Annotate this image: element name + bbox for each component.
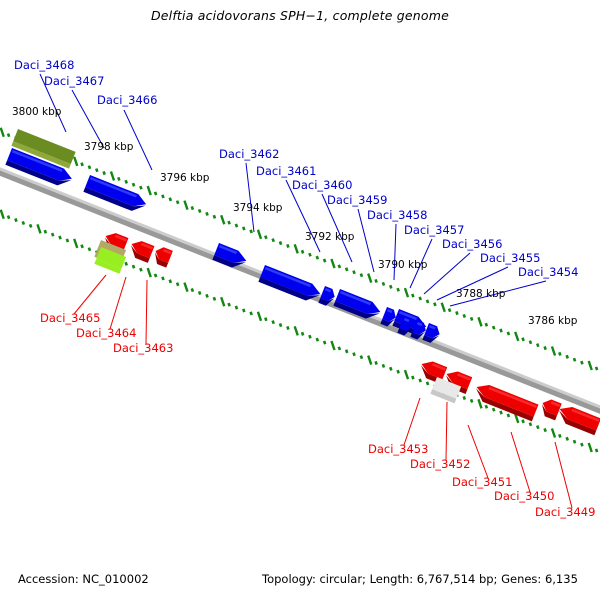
tick-mark [339, 265, 340, 268]
tick-mark [354, 353, 355, 356]
tick-mark [376, 279, 377, 282]
tick-mark [243, 227, 244, 230]
gene-reverse[interactable] [538, 397, 561, 420]
tick-mark [82, 245, 83, 248]
gene-label-daci_3463[interactable]: Daci_3463 [113, 341, 173, 355]
tick-mark [574, 440, 575, 443]
tick-mark [464, 396, 465, 399]
tick-mark [214, 215, 215, 218]
tick-mark [162, 277, 163, 280]
tick-mark [530, 423, 531, 426]
gene-reverse[interactable] [127, 238, 154, 263]
tick-mark [412, 294, 413, 297]
tick-mark [89, 166, 90, 169]
gene-reverse[interactable] [472, 381, 538, 421]
gene-label-daci_3467[interactable]: Daci_3467 [44, 74, 104, 88]
gene-label-daci_3452[interactable]: Daci_3452 [410, 457, 470, 471]
tick-mark [478, 399, 481, 408]
tick-mark [523, 420, 524, 423]
tick-mark [8, 216, 9, 219]
tick-mark [346, 350, 347, 353]
tick-mark [545, 346, 546, 349]
tick-mark [361, 356, 362, 359]
tick-mark [354, 271, 355, 274]
tick-mark [442, 303, 445, 312]
tick-mark [508, 414, 509, 417]
tick-mark [111, 171, 114, 180]
scale-label: 3794 kbp [233, 202, 283, 214]
tick-mark [478, 317, 481, 326]
genome-map-canvas[interactable]: 3800 kbp3798 kbp3796 kbp3794 kbp3792 kbp… [0, 0, 600, 600]
tick-mark [420, 297, 421, 300]
tick-mark [118, 177, 119, 180]
tick-mark [126, 180, 127, 183]
tick-mark [8, 134, 9, 137]
tick-mark [302, 332, 303, 335]
tick-mark [398, 370, 399, 373]
tick-mark [133, 183, 134, 186]
tick-mark [243, 309, 244, 312]
tick-mark [184, 283, 187, 292]
tick-mark [221, 215, 224, 224]
tick-mark [60, 236, 61, 239]
gene-label-daci_3466[interactable]: Daci_3466 [97, 93, 157, 107]
tick-mark [82, 163, 83, 166]
leader-line-forward [394, 224, 396, 280]
scale-label: 3796 kbp [160, 172, 210, 184]
tick-mark [581, 361, 582, 364]
tick-mark [346, 268, 347, 271]
leader-line-reverse [446, 402, 447, 460]
tick-mark [368, 356, 371, 365]
tick-mark [493, 326, 494, 329]
tick-mark [471, 317, 472, 320]
tick-mark [530, 341, 531, 344]
tick-mark [199, 291, 200, 294]
tick-mark [464, 314, 465, 317]
tick-mark [148, 268, 151, 277]
leader-line-forward [246, 163, 254, 232]
tick-mark [74, 239, 77, 248]
tick-mark [427, 300, 428, 303]
tick-mark [273, 321, 274, 324]
tick-mark [376, 361, 377, 364]
tick-mark [177, 283, 178, 286]
tick-mark [552, 428, 555, 437]
tick-mark [1, 128, 4, 137]
tick-mark [383, 364, 384, 367]
tick-mark [258, 230, 261, 239]
tick-mark [199, 209, 200, 212]
tick-mark [331, 259, 334, 268]
tick-mark [449, 309, 450, 312]
tick-mark [434, 303, 435, 306]
tick-mark [52, 233, 53, 236]
tick-mark [229, 303, 230, 306]
tick-mark [148, 186, 151, 195]
tick-mark [589, 443, 592, 452]
tick-mark [545, 428, 546, 431]
tick-mark [398, 288, 399, 291]
tick-mark [567, 437, 568, 440]
gene-reverse[interactable] [151, 245, 173, 268]
tick-mark [317, 338, 318, 341]
leader-line-reverse [555, 442, 572, 508]
tick-mark [214, 297, 215, 300]
tick-mark [405, 370, 408, 379]
tick-mark [324, 341, 325, 344]
leader-line-reverse [468, 425, 488, 478]
gene-label-daci_3453[interactable]: Daci_3453 [368, 442, 428, 456]
tick-mark [390, 285, 391, 288]
leader-line-reverse [404, 398, 420, 445]
tick-mark [589, 361, 592, 370]
tick-mark [265, 318, 266, 321]
tick-mark [412, 376, 413, 379]
tick-mark [89, 248, 90, 251]
gene-label-daci_3449[interactable]: Daci_3449 [535, 505, 595, 519]
tick-mark [140, 186, 141, 189]
tick-mark [486, 405, 487, 408]
gene-label-daci_3458[interactable]: Daci_3458 [367, 208, 427, 222]
gene-label-daci_3464[interactable]: Daci_3464 [76, 326, 136, 340]
tick-mark [140, 268, 141, 271]
tick-mark [309, 253, 310, 256]
tick-mark [515, 332, 518, 341]
tick-mark [295, 326, 298, 335]
tick-mark [192, 288, 193, 291]
gene-label-daci_3462[interactable]: Daci_3462 [219, 147, 279, 161]
gene-label-daci_3465[interactable]: Daci_3465 [40, 311, 100, 325]
gene-label-daci_3454[interactable]: Daci_3454 [518, 265, 578, 279]
tick-mark [251, 230, 252, 233]
tick-mark [221, 297, 224, 306]
tick-mark [30, 224, 31, 227]
tick-mark [104, 171, 105, 174]
tick-mark [523, 338, 524, 341]
leader-line-reverse [110, 277, 126, 329]
tick-mark [236, 306, 237, 309]
tick-mark [273, 239, 274, 242]
tick-mark [596, 449, 597, 452]
tick-mark [361, 274, 362, 277]
tick-mark [420, 379, 421, 382]
gene-label-daci_3461[interactable]: Daci_3461 [256, 164, 316, 178]
tick-mark [309, 335, 310, 338]
tick-mark [251, 312, 252, 315]
gene-label-daci_3468[interactable]: Daci_3468 [14, 58, 74, 72]
tick-mark [559, 434, 560, 437]
tick-mark [67, 239, 68, 242]
tick-mark [486, 323, 487, 326]
tick-mark [317, 256, 318, 259]
leader-line-reverse [511, 432, 530, 492]
accession-text: Accession: NC_010002 [18, 572, 149, 586]
scale-label: 3792 kbp [305, 231, 355, 243]
tick-mark [456, 311, 457, 314]
tick-mark [45, 230, 46, 233]
leader-line-reverse [146, 280, 147, 344]
leader-line-reverse [74, 275, 106, 314]
tick-mark [23, 221, 24, 224]
tick-mark [302, 250, 303, 253]
tick-mark [339, 347, 340, 350]
genome-map-page: Delftia acidovorans SPH−1, complete geno… [0, 0, 600, 600]
tick-mark [74, 157, 77, 166]
tick-mark [192, 206, 193, 209]
tick-mark [501, 411, 502, 414]
tick-mark [295, 244, 298, 253]
tick-mark [155, 192, 156, 195]
tick-mark [96, 169, 97, 172]
scale-label: 3800 kbp [12, 106, 62, 118]
tick-mark [236, 224, 237, 227]
tick-mark [207, 294, 208, 297]
tick-mark [427, 382, 428, 385]
tick-mark [537, 344, 538, 347]
tick-mark [331, 341, 334, 350]
gene-label-daci_3451[interactable]: Daci_3451 [452, 475, 512, 489]
tick-mark [229, 221, 230, 224]
tick-mark [184, 201, 187, 210]
tick-mark [471, 399, 472, 402]
tick-mark [552, 346, 555, 355]
tick-mark [559, 352, 560, 355]
gene-label-daci_3459[interactable]: Daci_3459 [327, 193, 387, 207]
tick-mark [280, 241, 281, 244]
tick-mark [493, 408, 494, 411]
tick-mark [170, 280, 171, 283]
scale-label: 3790 kbp [378, 259, 428, 271]
tick-mark [596, 367, 597, 370]
tick-mark [1, 210, 4, 219]
tick-mark [567, 355, 568, 358]
tick-mark [405, 288, 408, 297]
tick-mark [15, 218, 16, 221]
tick-mark [287, 326, 288, 329]
tick-mark [368, 274, 371, 283]
tick-mark [574, 358, 575, 361]
tick-mark [581, 443, 582, 446]
tick-mark [126, 262, 127, 265]
tick-mark [170, 198, 171, 201]
tick-mark [537, 426, 538, 429]
scale-label: 3798 kbp [84, 141, 134, 153]
gene-label-daci_3460[interactable]: Daci_3460 [292, 178, 352, 192]
gene-label-daci_3450[interactable]: Daci_3450 [494, 489, 554, 503]
tick-mark [265, 236, 266, 239]
tick-mark [37, 224, 40, 233]
tick-mark [287, 244, 288, 247]
tick-mark [390, 367, 391, 370]
tick-mark [501, 329, 502, 332]
gene-label-daci_3456[interactable]: Daci_3456 [442, 237, 502, 251]
tick-mark [155, 274, 156, 277]
genome-summary-text: Topology: circular; Length: 6,767,514 bp… [262, 572, 578, 586]
tick-mark [258, 312, 261, 321]
tick-mark [207, 212, 208, 215]
tick-mark [383, 282, 384, 285]
tick-mark [177, 201, 178, 204]
tick-mark [508, 332, 509, 335]
tick-mark [133, 265, 134, 268]
scale-label: 3786 kbp [528, 315, 578, 327]
gene-label-daci_3457[interactable]: Daci_3457 [404, 223, 464, 237]
tick-mark [280, 323, 281, 326]
tick-mark [162, 195, 163, 198]
tick-mark [324, 259, 325, 262]
leader-line-forward [124, 110, 152, 170]
gene-label-daci_3455[interactable]: Daci_3455 [480, 251, 540, 265]
scale-label: 3788 kbp [456, 288, 506, 300]
